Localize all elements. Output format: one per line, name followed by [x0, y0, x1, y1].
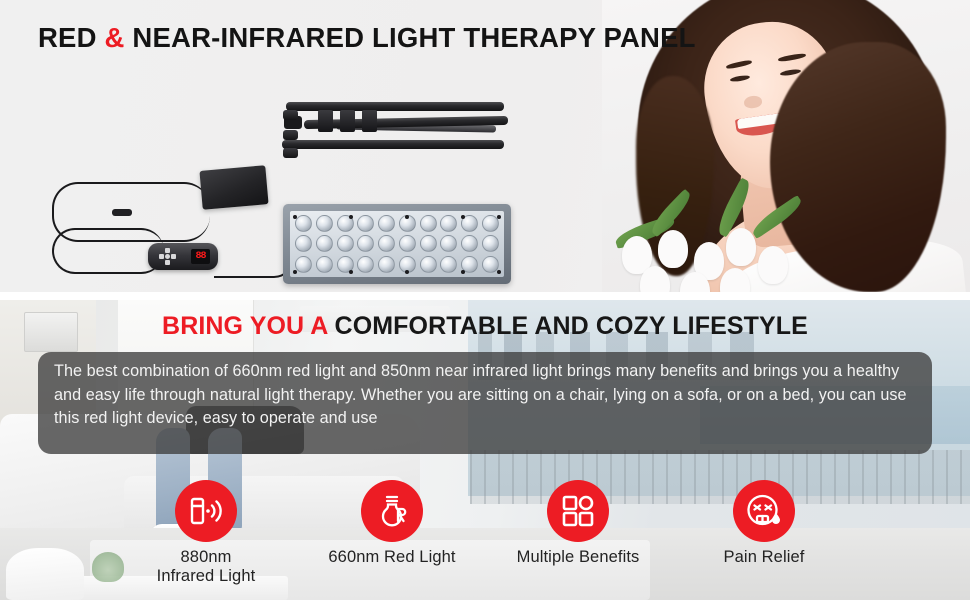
led-lens [316, 256, 333, 273]
led-lens [295, 235, 312, 252]
panel-screw [461, 215, 465, 219]
tripod-clamp [340, 110, 355, 132]
feature-label: 880nm Infrared Light [115, 548, 297, 586]
led-lens [295, 215, 312, 232]
product-infographic-page: RED & NEAR-INFRARED LIGHT THERAPY PANEL [0, 0, 970, 600]
feature-item: 880nm Infrared Light [115, 480, 297, 586]
section-divider [0, 292, 970, 300]
page-title-ampersand: & [105, 22, 125, 53]
feature-label: Pain Relief [673, 548, 855, 567]
page-title: RED & NEAR-INFRARED LIGHT THERAPY PANEL [38, 22, 696, 54]
tripod-clamp [362, 110, 377, 132]
section-heading-black: COMFORTABLE AND COZY LIFESTYLE [328, 312, 808, 340]
dpad-center-icon [165, 254, 170, 259]
led-lens [337, 235, 354, 252]
led-lens [461, 235, 478, 252]
led-lens [357, 215, 374, 232]
led-lens [420, 235, 437, 252]
tulip-bouquet [608, 200, 848, 292]
led-lens [440, 215, 457, 232]
led-lens [357, 235, 374, 252]
tulip-leaf [749, 195, 805, 239]
led-lens [316, 215, 333, 232]
panel-screw [461, 270, 465, 274]
description-box: The best combination of 660nm red light … [38, 352, 932, 454]
background-floor-lamp [6, 548, 84, 600]
feature-item: Multiple Benefits [487, 480, 669, 567]
panel-screw [349, 215, 353, 219]
hero-section: RED & NEAR-INFRARED LIGHT THERAPY PANEL [0, 0, 970, 292]
led-light-panel [283, 204, 511, 284]
panel-screw [293, 270, 297, 274]
page-title-part1: RED [38, 22, 105, 53]
crying-face-icon [733, 480, 795, 542]
led-lens-grid [290, 211, 504, 277]
feature-label: Multiple Benefits [487, 548, 669, 567]
feature-label: 660nm Red Light [301, 548, 483, 567]
cable-connector [283, 130, 298, 140]
led-lens [295, 256, 312, 273]
cable-connector [283, 110, 298, 120]
led-lens [316, 235, 333, 252]
tripod-leg [282, 140, 504, 149]
dpad-up-icon [165, 248, 170, 253]
grid-benefits-icon [547, 480, 609, 542]
led-lens [482, 256, 499, 273]
led-lens [378, 256, 395, 273]
description-text: The best combination of 660nm red light … [54, 360, 916, 431]
led-lens [399, 235, 416, 252]
tulip-flower [658, 230, 688, 268]
led-lens [357, 256, 374, 273]
led-lens [420, 215, 437, 232]
section-heading-red: BRING YOU A [162, 312, 327, 340]
led-lens [440, 256, 457, 273]
folding-tripod-stand [276, 96, 512, 166]
controller-display: 88 [191, 249, 210, 264]
led-lens [378, 235, 395, 252]
panel-screw [293, 215, 297, 219]
lifestyle-section: BRING YOU A COMFORTABLE AND COZY LIFESTY… [0, 300, 970, 600]
tulip-flower [758, 246, 788, 284]
led-lens [440, 235, 457, 252]
page-title-part2: NEAR-INFRARED LIGHT THERAPY PANEL [125, 22, 696, 53]
dpad-right-icon [171, 254, 176, 259]
dpad-down-icon [165, 260, 170, 265]
tulip-flower [640, 266, 670, 292]
feature-list: 880nm Infrared Light660nm Red LightMulti… [115, 480, 855, 592]
tripod-clamp [318, 110, 333, 132]
panel-screw [349, 270, 353, 274]
panel-screw [497, 215, 501, 219]
infrared-signal-icon [175, 480, 237, 542]
led-lens [378, 215, 395, 232]
panel-screw [405, 270, 409, 274]
feature-item: Pain Relief [673, 480, 855, 567]
dpad-left-icon [159, 254, 164, 259]
power-cable [214, 248, 294, 278]
panel-screw [405, 215, 409, 219]
led-lens [420, 256, 437, 273]
led-lens [482, 235, 499, 252]
red-light-bulb-icon [361, 480, 423, 542]
panel-screw [497, 270, 501, 274]
led-lens [482, 215, 499, 232]
tulip-flower [720, 268, 750, 292]
cable-joint [112, 209, 132, 216]
section-heading: BRING YOU A COMFORTABLE AND COZY LIFESTY… [0, 312, 970, 341]
feature-item: 660nm Red Light [301, 480, 483, 567]
power-adapter [199, 165, 268, 210]
cable-connector [283, 148, 298, 158]
controller-dpad [159, 248, 176, 265]
inline-controller: 88 [148, 243, 218, 270]
tulip-flower [726, 228, 756, 266]
